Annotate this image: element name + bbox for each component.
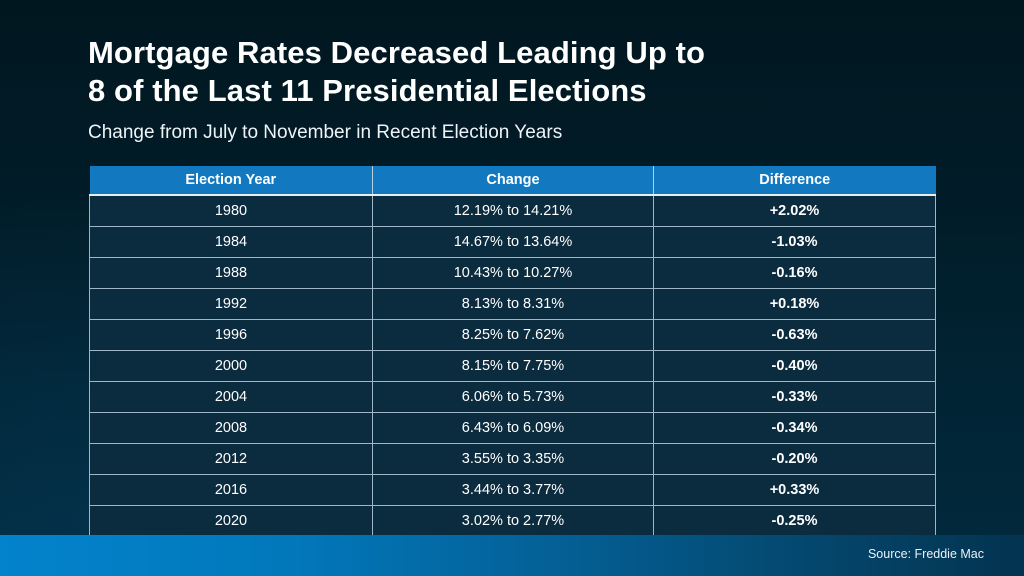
cell-change: 3.02% to 2.77% <box>373 506 654 537</box>
cell-change: 3.55% to 3.35% <box>373 444 654 475</box>
source-attribution: Source: Freddie Mac <box>868 547 984 561</box>
cell-change: 8.15% to 7.75% <box>373 351 654 382</box>
header-block: Mortgage Rates Decreased Leading Up to 8… <box>88 34 958 145</box>
cell-election-year: 2016 <box>90 475 373 506</box>
cell-difference: -1.03% <box>654 227 936 258</box>
cell-difference: +2.02% <box>654 195 936 227</box>
footer-bar: Source: Freddie Mac <box>0 535 1024 576</box>
cell-difference: -0.20% <box>654 444 936 475</box>
cell-election-year: 2008 <box>90 413 373 444</box>
page-subtitle: Change from July to November in Recent E… <box>88 121 958 145</box>
cell-election-year: 1996 <box>90 320 373 351</box>
table-row: 20046.06% to 5.73%-0.33% <box>90 382 936 413</box>
cell-change: 12.19% to 14.21% <box>373 195 654 227</box>
cell-difference: -0.40% <box>654 351 936 382</box>
cell-difference: +0.33% <box>654 475 936 506</box>
cell-election-year: 1992 <box>90 289 373 320</box>
table-row: 198012.19% to 14.21%+2.02% <box>90 195 936 227</box>
table-header-row: Election Year Change Difference <box>90 166 936 195</box>
table-row: 20123.55% to 3.35%-0.20% <box>90 444 936 475</box>
cell-change: 6.06% to 5.73% <box>373 382 654 413</box>
cell-change: 10.43% to 10.27% <box>373 258 654 289</box>
table-row: 19928.13% to 8.31%+0.18% <box>90 289 936 320</box>
cell-election-year: 1984 <box>90 227 373 258</box>
cell-change: 8.13% to 8.31% <box>373 289 654 320</box>
column-header-election-year: Election Year <box>90 166 373 195</box>
cell-difference: -0.34% <box>654 413 936 444</box>
table-row: 19968.25% to 7.62%-0.63% <box>90 320 936 351</box>
page-title-line-2: 8 of the Last 11 Presidential Elections <box>88 72 958 110</box>
cell-election-year: 2000 <box>90 351 373 382</box>
cell-difference: +0.18% <box>654 289 936 320</box>
page-title-line-1: Mortgage Rates Decreased Leading Up to <box>88 34 958 72</box>
table-row: 20086.43% to 6.09%-0.34% <box>90 413 936 444</box>
table-row: 198414.67% to 13.64%-1.03% <box>90 227 936 258</box>
table-row: 20203.02% to 2.77%-0.25% <box>90 506 936 537</box>
mortgage-rates-table: Election Year Change Difference 198012.1… <box>89 166 936 537</box>
cell-difference: -0.16% <box>654 258 936 289</box>
cell-difference: -0.25% <box>654 506 936 537</box>
cell-change: 6.43% to 6.09% <box>373 413 654 444</box>
cell-change: 8.25% to 7.62% <box>373 320 654 351</box>
cell-election-year: 2020 <box>90 506 373 537</box>
column-header-difference: Difference <box>654 166 936 195</box>
column-header-change: Change <box>373 166 654 195</box>
cell-change: 3.44% to 3.77% <box>373 475 654 506</box>
table-row: 20163.44% to 3.77%+0.33% <box>90 475 936 506</box>
table-body: 198012.19% to 14.21%+2.02%198414.67% to … <box>90 195 936 537</box>
cell-election-year: 2012 <box>90 444 373 475</box>
slide-canvas: Mortgage Rates Decreased Leading Up to 8… <box>0 0 1024 576</box>
cell-difference: -0.63% <box>654 320 936 351</box>
cell-difference: -0.33% <box>654 382 936 413</box>
cell-change: 14.67% to 13.64% <box>373 227 654 258</box>
cell-election-year: 1980 <box>90 195 373 227</box>
table-row: 20008.15% to 7.75%-0.40% <box>90 351 936 382</box>
table-header: Election Year Change Difference <box>90 166 936 195</box>
cell-election-year: 1988 <box>90 258 373 289</box>
cell-election-year: 2004 <box>90 382 373 413</box>
table-row: 198810.43% to 10.27%-0.16% <box>90 258 936 289</box>
